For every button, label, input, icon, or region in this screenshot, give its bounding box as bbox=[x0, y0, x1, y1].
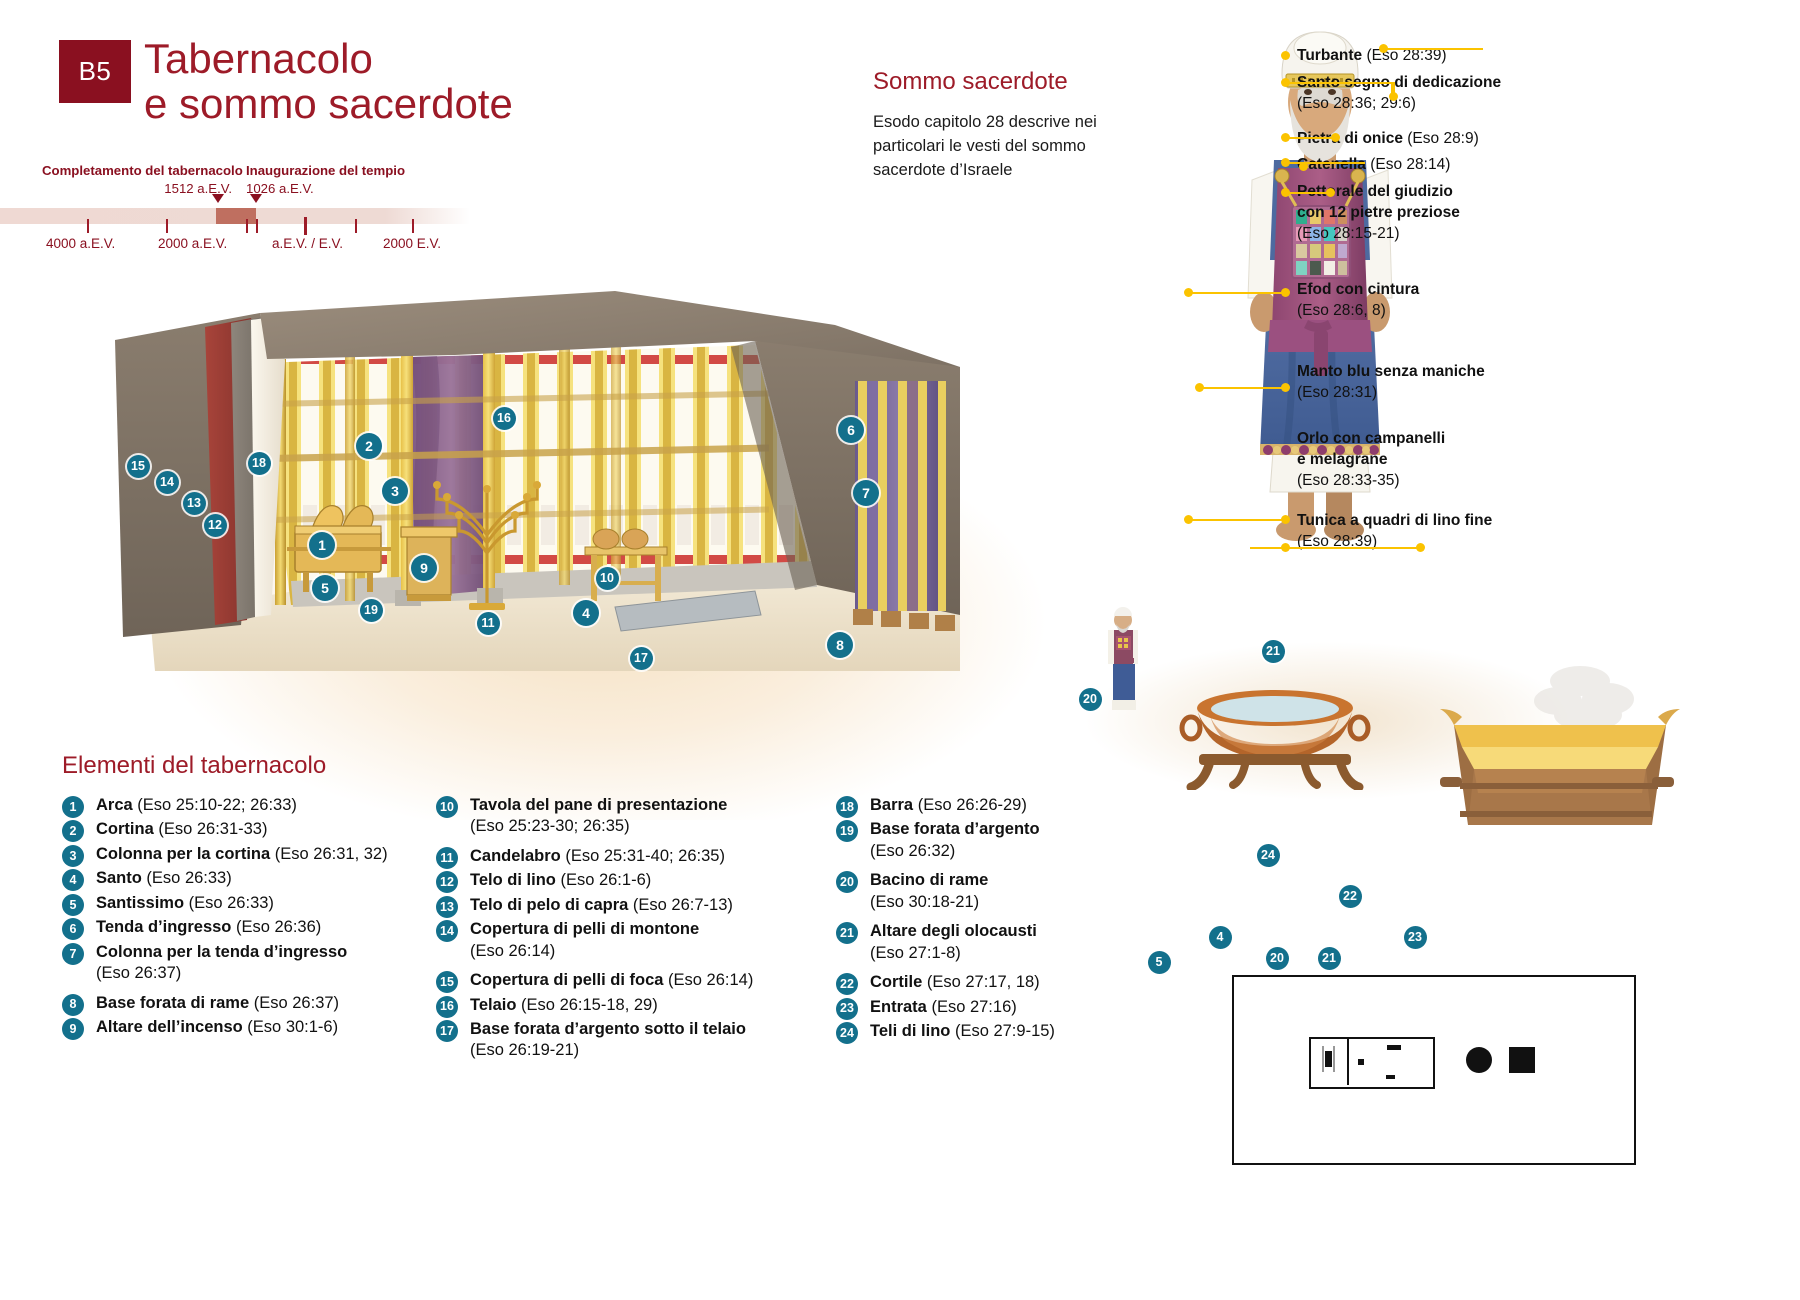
legend-item-reference: (Eso 26:31-33) bbox=[154, 820, 268, 838]
timeline-tick bbox=[355, 219, 357, 233]
legend-item-7[interactable]: 7Colonna per la tenda d’ingresso(Eso 26:… bbox=[62, 942, 432, 985]
plan-marker-23[interactable]: 23 bbox=[1404, 926, 1427, 949]
plan-incense-altar bbox=[1358, 1059, 1364, 1065]
legend-item-reference: (Eso 26:15-18, 29) bbox=[516, 996, 657, 1014]
legend-item-reference: (Eso 25:23-30; 26:35) bbox=[470, 816, 816, 837]
plan-marker-5[interactable]: 5 bbox=[1148, 951, 1171, 974]
page-title-line2: e sommo sacerdote bbox=[144, 82, 513, 127]
legend-item-label: Barra bbox=[870, 796, 913, 814]
legend-item-number: 1 bbox=[62, 796, 84, 818]
legend-item-6[interactable]: 6Tenda d’ingresso (Eso 26:36) bbox=[62, 917, 432, 938]
legend-item-number: 2 bbox=[62, 820, 84, 842]
plan-ark bbox=[1325, 1051, 1332, 1067]
high-priest-intro: Esodo capitolo 28 descrive nei particola… bbox=[873, 110, 1113, 182]
legend-item-19[interactable]: 19Base forata d’argento(Eso 26:32) bbox=[836, 819, 1206, 862]
plan-marker-20[interactable]: 20 bbox=[1266, 947, 1289, 970]
illustration-marker-10[interactable]: 10 bbox=[596, 567, 619, 590]
timeline-axis-label: 2000 a.E.V. bbox=[158, 236, 227, 251]
leader-line bbox=[1199, 387, 1286, 389]
legend-item-number: 11 bbox=[436, 847, 458, 869]
illustration-marker-4[interactable]: 4 bbox=[573, 600, 599, 626]
timeline-axis-label: 4000 a.E.V. bbox=[46, 236, 115, 251]
legend-item-reference: (Eso 26:19-21) bbox=[470, 1040, 816, 1061]
timeline: Completamento del tabernacolo 1512 a.E.V… bbox=[0, 168, 520, 260]
plan-edge-bottom-dashed bbox=[1232, 1163, 1636, 1165]
plan-marker-21[interactable]: 21 bbox=[1318, 947, 1341, 970]
legend-item-23[interactable]: 23Entrata (Eso 27:16) bbox=[836, 997, 1206, 1018]
legend-item-number: 15 bbox=[436, 971, 458, 993]
legend-item-number: 17 bbox=[436, 1020, 458, 1042]
legend-item-reference: (Eso 27:17, 18) bbox=[922, 973, 1039, 991]
leader-line bbox=[1285, 162, 1365, 164]
illustration-marker-2[interactable]: 2 bbox=[356, 433, 382, 459]
leader-line bbox=[1250, 547, 1422, 549]
legend-item-14[interactable]: 14Copertura di pelli di montone(Eso 26:1… bbox=[436, 919, 816, 962]
legend-item-label: Base forata di rame bbox=[96, 994, 249, 1012]
leader-dot-end bbox=[1281, 515, 1290, 524]
leader-dot-end bbox=[1281, 133, 1290, 142]
legend-item-label: Copertura di pelli di foca bbox=[470, 971, 663, 989]
copper-basin-illustration bbox=[1165, 680, 1385, 790]
plan-marker-22[interactable]: 22 bbox=[1339, 885, 1362, 908]
leader-line bbox=[1188, 292, 1286, 294]
leader-line bbox=[1285, 137, 1335, 139]
leader-dot bbox=[1389, 92, 1398, 101]
burnt-offering-altar-illustration bbox=[1430, 665, 1690, 845]
legend-item-15[interactable]: 15Copertura di pelli di foca (Eso 26:14) bbox=[436, 970, 816, 991]
leader-dot bbox=[1326, 188, 1335, 197]
legend-item-number: 16 bbox=[436, 996, 458, 1018]
illustration-marker-9[interactable]: 9 bbox=[411, 555, 437, 581]
legend-item-reference: (Eso 26:1-6) bbox=[556, 871, 651, 889]
priest-figure-small bbox=[1098, 600, 1148, 720]
plan-veil-divider bbox=[1347, 1037, 1349, 1085]
legend-column-3: 18Barra (Eso 26:26-29)19Base forata d’ar… bbox=[836, 795, 1206, 1045]
legend-item-number: 22 bbox=[836, 973, 858, 995]
legend-item-number: 3 bbox=[62, 845, 84, 867]
legend-item-13[interactable]: 13Telo di pelo di capra (Eso 26:7-13) bbox=[436, 895, 816, 916]
callout-santo-segno: Santo segno di dedicazione (Eso 28:36; 2… bbox=[1297, 73, 1501, 115]
leader-dot bbox=[1184, 515, 1193, 524]
illustration-marker-7[interactable]: 7 bbox=[853, 480, 879, 506]
callout-efod: Efod con cintura (Eso 28:6, 8) bbox=[1297, 280, 1419, 322]
legend-item-reference: (Eso 26:37) bbox=[96, 963, 432, 984]
legend-item-3[interactable]: 3Colonna per la cortina (Eso 26:31, 32) bbox=[62, 844, 432, 865]
timeline-event-temple: Inaugurazione del tempio 1026 a.E.V. bbox=[246, 162, 446, 198]
legend-item-reference: (Eso 26:37) bbox=[249, 994, 339, 1012]
legend-item-reference: (Eso 26:33) bbox=[184, 894, 274, 912]
legend-item-label: Colonna per la cortina bbox=[96, 845, 270, 863]
legend-item-number: 21 bbox=[836, 922, 858, 944]
plan-lampstand bbox=[1386, 1075, 1395, 1079]
callout-orlo-campanelli: Orlo con campanelli e melagrane (Eso 28:… bbox=[1297, 429, 1445, 492]
legend-item-label: Entrata bbox=[870, 998, 927, 1016]
legend-item-number: 18 bbox=[836, 796, 858, 818]
legend-item-reference: (Eso 26:26-29) bbox=[913, 796, 1027, 814]
leader-dot bbox=[1299, 162, 1308, 171]
leader-dot-end bbox=[1281, 543, 1290, 552]
legend-item-reference: (Eso 25:10-22; 26:33) bbox=[133, 796, 297, 814]
section-badge: B5 bbox=[59, 40, 131, 103]
legend-item-10[interactable]: 10Tavola del pane di presentazione(Eso 2… bbox=[436, 795, 816, 838]
legend-item-label: Tenda d’ingresso bbox=[96, 918, 231, 936]
plan-burnt-offering-altar bbox=[1509, 1047, 1535, 1073]
timeline-tick bbox=[246, 219, 248, 233]
plan-copper-basin bbox=[1466, 1047, 1492, 1073]
legend-item-label: Candelabro bbox=[470, 847, 561, 865]
leader-dot-end bbox=[1281, 288, 1290, 297]
plan-tabernacle-building bbox=[1309, 1037, 1435, 1089]
legend-item-9[interactable]: 9Altare dell’incenso (Eso 30:1-6) bbox=[62, 1017, 432, 1038]
legend-item-label: Altare degli olocausti bbox=[870, 922, 1037, 940]
legend-item-1[interactable]: 1Arca (Eso 25:10-22; 26:33) bbox=[62, 795, 432, 816]
plan-edge-top-dashed bbox=[1232, 975, 1636, 977]
leader-line bbox=[1285, 192, 1332, 194]
legend-item-number: 5 bbox=[62, 894, 84, 916]
legend-item-4[interactable]: 4Santo (Eso 26:33) bbox=[62, 868, 432, 889]
legend-item-reference: (Eso 26:31, 32) bbox=[270, 845, 387, 863]
legend-item-label: Colonna per la tenda d’ingresso bbox=[96, 943, 347, 961]
illustration-marker-1[interactable]: 1 bbox=[309, 532, 335, 558]
illustration-marker-13[interactable]: 13 bbox=[183, 492, 206, 515]
legend-item-number: 24 bbox=[836, 1022, 858, 1044]
legend-item-label: Santo bbox=[96, 869, 142, 887]
timeline-axis-label: 2000 E.V. bbox=[383, 236, 441, 251]
plan-showbread-table bbox=[1387, 1045, 1401, 1050]
legend-item-reference: (Eso 30:18-21) bbox=[870, 892, 1206, 913]
legend-item-label: Base forata d’argento bbox=[870, 820, 1040, 838]
leader-dot-end bbox=[1281, 51, 1290, 60]
legend-item-2[interactable]: 2Cortina (Eso 26:31-33) bbox=[62, 819, 432, 840]
legend-item-label: Santissimo bbox=[96, 894, 184, 912]
legend-item-24[interactable]: 24Teli di lino (Eso 27:9-15) bbox=[836, 1021, 1206, 1042]
legend-item-label: Cortile bbox=[870, 973, 922, 991]
legend-item-12[interactable]: 12Telo di lino (Eso 26:1-6) bbox=[436, 870, 816, 891]
legend-item-label: Telaio bbox=[470, 996, 516, 1014]
timeline-tick-era bbox=[304, 217, 307, 235]
leader-dot bbox=[1331, 133, 1340, 142]
legend-item-label: Bacino di rame bbox=[870, 871, 988, 889]
page-title-line1: Tabernacolo bbox=[144, 37, 513, 82]
illustration-marker-17[interactable]: 17 bbox=[630, 647, 653, 670]
legend-item-reference: (Eso 26:14) bbox=[663, 971, 753, 989]
plan-edge-left-dashed bbox=[1232, 975, 1234, 1165]
legend-item-number: 12 bbox=[436, 871, 458, 893]
legend-item-number: 20 bbox=[836, 871, 858, 893]
plan-marker-24[interactable]: 24 bbox=[1257, 844, 1280, 867]
callout-catenella: Catenella (Eso 28:14) bbox=[1297, 155, 1450, 176]
illustration-marker-3[interactable]: 3 bbox=[382, 478, 408, 504]
legend-item-reference: (Eso 26:7-13) bbox=[628, 896, 733, 914]
illustration-marker-20[interactable]: 20 bbox=[1079, 688, 1102, 711]
leader-dot-end bbox=[1281, 158, 1290, 167]
timeline-tick bbox=[87, 219, 89, 233]
leader-dot bbox=[1195, 383, 1204, 392]
plan-marker-4[interactable]: 4 bbox=[1209, 926, 1232, 949]
timeline-tick bbox=[412, 219, 414, 233]
legend-item-17[interactable]: 17Base forata d’argento sotto il telaio(… bbox=[436, 1019, 816, 1062]
plan-ark-pole bbox=[1322, 1046, 1324, 1072]
legend-item-label: Telo di lino bbox=[470, 871, 556, 889]
legend-item-reference: (Eso 26:33) bbox=[142, 869, 232, 887]
legend-item-22[interactable]: 22Cortile (Eso 27:17, 18) bbox=[836, 972, 1206, 993]
legend-item-reference: (Eso 30:1-6) bbox=[243, 1018, 338, 1036]
page-root: B5 Tabernacolo e sommo sacerdote Complet… bbox=[0, 0, 1800, 1300]
legend-item-18[interactable]: 18Barra (Eso 26:26-29) bbox=[836, 795, 1206, 816]
illustration-marker-14[interactable]: 14 bbox=[156, 471, 179, 494]
legend-item-number: 9 bbox=[62, 1018, 84, 1040]
illustration-marker-11[interactable]: 11 bbox=[477, 612, 500, 635]
illustration-marker-5[interactable]: 5 bbox=[312, 575, 338, 601]
leader-dot bbox=[1379, 44, 1388, 53]
plan-edge-right-dashed bbox=[1634, 975, 1636, 1165]
legend-item-8[interactable]: 8Base forata di rame (Eso 26:37) bbox=[62, 993, 432, 1014]
floor-plan-inner bbox=[1234, 977, 1634, 1163]
leader-dot-end bbox=[1281, 188, 1290, 197]
illustration-marker-15[interactable]: 15 bbox=[127, 455, 150, 478]
timeline-event-tabernacle: Completamento del tabernacolo 1512 a.E.V… bbox=[42, 162, 232, 198]
legend-item-label: Cortina bbox=[96, 820, 154, 838]
leader-line bbox=[1285, 82, 1393, 84]
leader-line bbox=[1188, 519, 1286, 521]
legend-item-20[interactable]: 20Bacino di rame(Eso 30:18-21) bbox=[836, 870, 1206, 913]
legend-item-16[interactable]: 16Telaio (Eso 26:15-18, 29) bbox=[436, 995, 816, 1016]
illustration-marker-8[interactable]: 8 bbox=[827, 632, 853, 658]
illustration-marker-6[interactable]: 6 bbox=[838, 417, 864, 443]
legend-item-number: 13 bbox=[436, 896, 458, 918]
legend-item-label: Teli di lino bbox=[870, 1022, 950, 1040]
legend-item-11[interactable]: 11Candelabro (Eso 25:31-40; 26:35) bbox=[436, 846, 816, 867]
legend-item-reference: (Eso 27:16) bbox=[927, 998, 1017, 1016]
legend-item-number: 8 bbox=[62, 994, 84, 1016]
illustration-marker-16[interactable]: 16 bbox=[493, 407, 516, 430]
legend-item-reference: (Eso 27:9-15) bbox=[950, 1022, 1055, 1040]
legend-item-reference: (Eso 25:31-40; 26:35) bbox=[561, 847, 725, 865]
legend-item-label: Altare dell’incenso bbox=[96, 1018, 243, 1036]
legend-column-1: 1Arca (Eso 25:10-22; 26:33)2Cortina (Eso… bbox=[62, 795, 432, 1041]
legend-item-label: Telo di pelo di capra bbox=[470, 896, 628, 914]
legend-item-number: 10 bbox=[436, 796, 458, 818]
legend-item-reference: (Eso 26:36) bbox=[231, 918, 321, 936]
legend-item-label: Tavola del pane di presentazione bbox=[470, 796, 727, 814]
leader-dot bbox=[1184, 288, 1193, 297]
legend-item-number: 14 bbox=[436, 920, 458, 942]
timeline-tick bbox=[256, 219, 258, 233]
legend-item-5[interactable]: 5Santissimo (Eso 26:33) bbox=[62, 893, 432, 914]
timeline-highlight-span bbox=[216, 208, 256, 224]
tabernacle-floor-plan bbox=[1232, 975, 1636, 1165]
legend-heading: Elementi del tabernacolo bbox=[62, 752, 326, 780]
leader-dot-end bbox=[1281, 78, 1290, 87]
high-priest-heading: Sommo sacerdote bbox=[873, 68, 1068, 96]
legend-item-number: 7 bbox=[62, 943, 84, 965]
legend-item-number: 4 bbox=[62, 869, 84, 891]
legend-item-number: 6 bbox=[62, 918, 84, 940]
illustration-marker-12[interactable]: 12 bbox=[204, 514, 227, 537]
legend-item-reference: (Eso 26:14) bbox=[470, 941, 816, 962]
callout-pietra-onice: Pietra di onice (Eso 28:9) bbox=[1297, 129, 1479, 150]
leader-line bbox=[1383, 48, 1483, 50]
callout-manto-blu: Manto blu senza maniche (Eso 28:31) bbox=[1297, 362, 1485, 404]
illustration-marker-19[interactable]: 19 bbox=[360, 599, 383, 622]
page-title: Tabernacolo e sommo sacerdote bbox=[144, 37, 513, 127]
leader-dot bbox=[1416, 543, 1425, 552]
legend-item-label: Base forata d’argento sotto il telaio bbox=[470, 1020, 746, 1038]
leader-dot-end bbox=[1281, 383, 1290, 392]
timeline-tick bbox=[166, 219, 168, 233]
legend-column-2: 10Tavola del pane di presentazione(Eso 2… bbox=[436, 795, 816, 1070]
legend-item-reference: (Eso 26:32) bbox=[870, 841, 1206, 862]
illustration-marker-21[interactable]: 21 bbox=[1262, 640, 1285, 663]
illustration-marker-18[interactable]: 18 bbox=[248, 452, 271, 475]
legend-item-label: Copertura di pelli di montone bbox=[470, 920, 699, 938]
legend-item-number: 19 bbox=[836, 820, 858, 842]
legend-item-label: Arca bbox=[96, 796, 133, 814]
timeline-axis-label: a.E.V. / E.V. bbox=[272, 236, 343, 251]
legend-item-number: 23 bbox=[836, 998, 858, 1020]
plan-ark-pole bbox=[1333, 1046, 1335, 1072]
